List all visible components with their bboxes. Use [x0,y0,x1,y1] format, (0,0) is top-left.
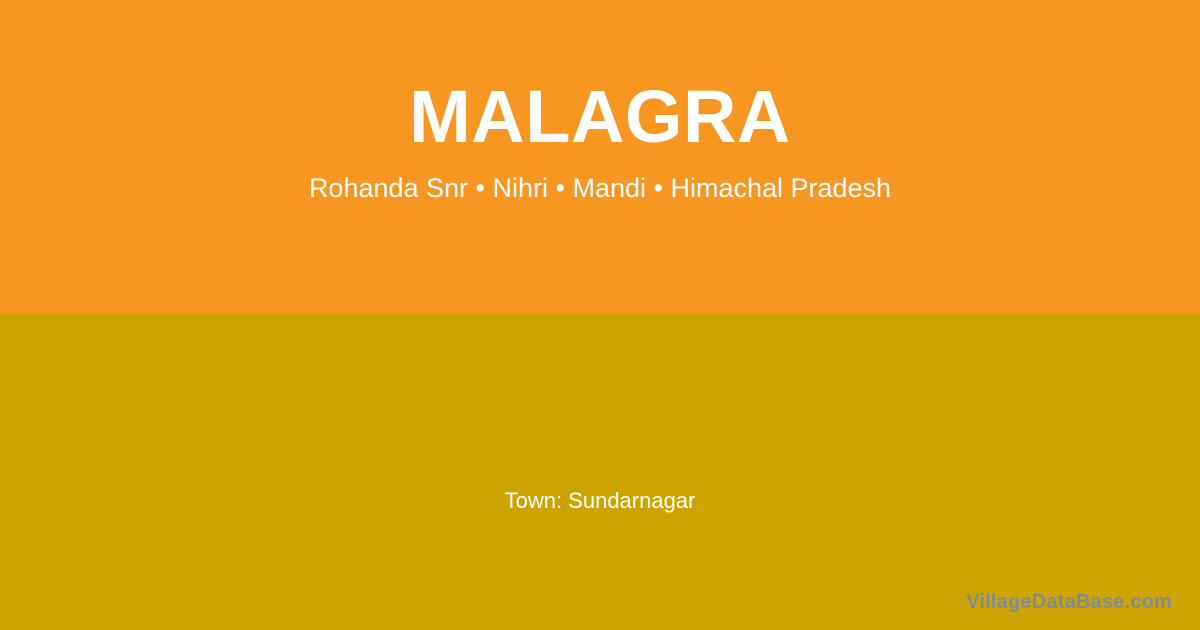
details-section: Town: Sundarnagar VillageDataBase.com [0,314,1200,630]
hero-banner: MALAGRA Rohanda Snr • Nihri • Mandi • Hi… [0,0,1200,314]
page-title: MALAGRA [409,78,791,156]
village-info-card: MALAGRA Rohanda Snr • Nihri • Mandi • Hi… [0,0,1200,630]
detail-town: Town: Sundarnagar [0,487,1200,516]
site-watermark-link[interactable]: VillageDataBase.com [966,590,1172,614]
breadcrumb: Rohanda Snr • Nihri • Mandi • Himachal P… [309,172,891,206]
